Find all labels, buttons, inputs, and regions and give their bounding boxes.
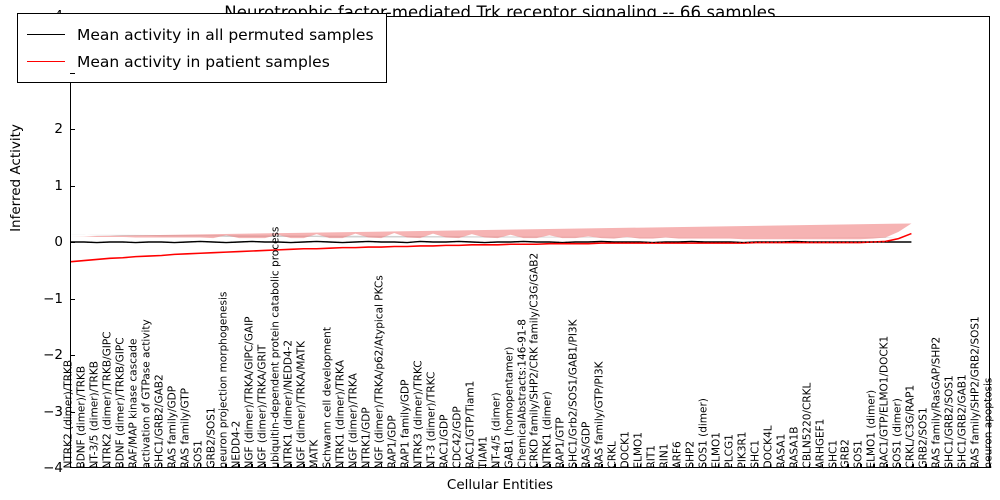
x-tick-label: SOS1	[193, 440, 204, 468]
x-tick-label: RAS family/GTP/PI3K	[595, 361, 606, 468]
x-tick-mark	[744, 464, 745, 468]
y-tick-mark	[70, 73, 75, 74]
x-tick-mark	[640, 464, 641, 468]
x-tick-mark	[977, 464, 978, 468]
y-tick-mark	[70, 412, 75, 413]
x-tick-label: CRKL/C3G/RAP1	[906, 384, 917, 468]
x-tick-mark	[394, 464, 395, 468]
x-tick-label: TIAM1	[478, 436, 489, 468]
x-tick-label: RAS/GDP	[582, 421, 593, 468]
x-tick-label: MATK	[310, 439, 321, 468]
x-tick-mark	[459, 464, 460, 468]
x-tick-label: RAP1 family/GDP	[400, 379, 411, 468]
y-tick-mark	[70, 299, 75, 300]
legend-line-swatch	[27, 61, 65, 62]
x-tick-label: Schwann cell development	[323, 327, 334, 468]
x-tick-mark	[498, 464, 499, 468]
y-tick-mark	[70, 242, 75, 243]
y-tick-label: 0	[3, 234, 63, 250]
x-tick-label: RIT1	[647, 445, 658, 469]
x-tick-label: GRB2	[841, 439, 852, 468]
x-tick-label: DOCK1	[621, 431, 632, 468]
x-tick-label: SOS1 (dimer)	[698, 398, 709, 468]
x-tick-label: SHC1/GRB2/SOS1	[945, 375, 956, 468]
x-tick-mark	[187, 464, 188, 468]
x-tick-label: CDC42/GDP	[452, 406, 463, 468]
x-tick-label: NTRK2 (dimer)/TRKB/GIPC	[102, 331, 113, 468]
x-tick-mark	[899, 464, 900, 468]
x-tick-mark	[277, 464, 278, 468]
x-tick-mark	[925, 464, 926, 468]
x-tick-label: NTRK1/GDP	[362, 407, 373, 468]
x-tick-label: NT-3/5 (dimer)/TRKB	[89, 361, 100, 468]
x-tick-mark	[614, 464, 615, 468]
x-tick-label: ELMO1	[711, 432, 722, 469]
x-tick-label: NTRK1 (dimer)/TRKA	[336, 360, 347, 468]
x-tick-mark	[912, 464, 913, 468]
y-tick-label: 2	[3, 121, 63, 137]
x-tick-mark	[316, 464, 317, 468]
x-tick-mark	[731, 464, 732, 468]
confidence-band	[71, 223, 911, 239]
x-tick-label: RAF/MAP kinase cascade	[128, 338, 139, 468]
x-tick-mark	[225, 464, 226, 468]
legend-entry: Mean activity in all permuted samples	[27, 21, 374, 48]
legend-label: Mean activity in patient samples	[77, 53, 330, 71]
legend-entry: Mean activity in patient samples	[27, 48, 374, 75]
x-tick-label: RAP1/GTP	[556, 417, 567, 468]
x-tick-label: GRB2/SOS1	[206, 407, 217, 468]
x-tick-mark	[174, 464, 175, 468]
x-tick-label: RAP1/GDP	[387, 415, 398, 468]
x-tick-label: RAS family/SHP2/GRB2/SOS1	[971, 316, 982, 468]
x-tick-mark	[770, 464, 771, 468]
x-tick-mark	[109, 464, 110, 468]
x-tick-label: RAS family/GDP	[167, 385, 178, 468]
x-tick-mark	[213, 464, 214, 468]
x-tick-mark	[718, 464, 719, 468]
x-tick-mark	[692, 464, 693, 468]
x-tick-mark	[433, 464, 434, 468]
x-axis-label: Cellular Entities	[0, 477, 1000, 493]
y-tick-mark	[70, 355, 75, 356]
x-tick-mark	[990, 464, 991, 468]
x-tick-mark	[524, 464, 525, 468]
x-tick-mark	[511, 464, 512, 468]
x-tick-label: SOS1	[854, 440, 865, 468]
y-tick-label: −1	[3, 291, 63, 307]
x-tick-label: SHC1/GRB2/GAB2	[154, 374, 165, 468]
x-tick-mark	[446, 464, 447, 468]
figure: Neurotrophic factor-mediated Trk recepto…	[0, 0, 1000, 500]
y-tick-mark	[70, 129, 75, 130]
x-tick-label: NT-4/5 (dimer)	[491, 392, 502, 468]
x-tick-label: RAC1/GDP	[439, 414, 450, 468]
x-tick-mark	[303, 464, 304, 468]
x-tick-label: NEDD4-2	[232, 420, 243, 468]
x-tick-mark	[420, 464, 421, 468]
x-tick-mark	[757, 464, 758, 468]
x-tick-mark	[148, 464, 149, 468]
x-tick-mark	[562, 464, 563, 468]
x-tick-label: GRB2/SOS1	[919, 407, 930, 468]
x-tick-mark	[938, 464, 939, 468]
x-tick-label: PLCG1	[724, 434, 735, 468]
y-tick-label: 1	[3, 178, 63, 194]
x-tick-mark	[407, 464, 408, 468]
x-tick-mark	[964, 464, 965, 468]
x-tick-label: ELMO1 (dimer)	[867, 389, 878, 468]
x-tick-mark	[783, 464, 784, 468]
legend-label: Mean activity in all permuted samples	[77, 26, 374, 44]
x-tick-mark	[238, 464, 239, 468]
x-tick-mark	[588, 464, 589, 468]
x-tick-mark	[796, 464, 797, 468]
x-tick-mark	[886, 464, 887, 468]
x-tick-mark	[161, 464, 162, 468]
x-tick-mark	[251, 464, 252, 468]
x-tick-mark	[290, 464, 291, 468]
x-tick-label: NTRK1 (dimer)	[543, 391, 554, 468]
x-tick-mark	[96, 464, 97, 468]
x-tick-label: SOS1 (dimer)	[893, 398, 904, 468]
x-tick-label: RAC1/GTP/Tiam1	[465, 380, 476, 468]
x-tick-mark	[342, 464, 343, 468]
x-tick-label: SHC1	[750, 439, 761, 468]
x-tick-label: SHC1/GRB2/GAB1	[958, 374, 969, 468]
x-tick-mark	[264, 464, 265, 468]
x-tick-label: NGF (dimer)/TRKA/p62/Atypical PKCs	[374, 275, 385, 468]
x-tick-mark	[601, 464, 602, 468]
x-tick-mark	[666, 464, 667, 468]
x-tick-mark	[549, 464, 550, 468]
x-tick-mark	[653, 464, 654, 468]
x-tick-label: NTRK1 (dimer)/NEDD4-2	[284, 339, 295, 468]
x-tick-mark	[329, 464, 330, 468]
y-tick-mark	[70, 186, 75, 187]
x-tick-label: ARF6	[673, 441, 684, 468]
x-tick-mark	[822, 464, 823, 468]
x-tick-mark	[873, 464, 874, 468]
x-tick-mark	[70, 464, 71, 468]
x-tick-label: DOCK4L	[763, 425, 774, 468]
x-tick-mark	[536, 464, 537, 468]
y-tick-label: −2	[3, 347, 63, 363]
x-tick-label: neuron projection morphogenesis	[219, 291, 230, 468]
x-tick-label: GAB1 (homopentamer)	[504, 346, 515, 468]
x-tick-mark	[122, 464, 123, 468]
x-tick-label: ChemicalAbstracts:146-91-8	[517, 319, 528, 468]
y-tick-label: −4	[3, 460, 63, 476]
x-tick-mark	[809, 464, 810, 468]
x-tick-label: ubiquitin-dependent protein catabolic pr…	[271, 226, 282, 468]
x-tick-label: NGF (dimer)/TRKA	[349, 373, 360, 468]
x-tick-label: NTRK3 (dimer)/TRKC	[413, 360, 424, 468]
x-tick-label: CRKD family/SHP2/CRK family/C3G/GAB2	[530, 252, 541, 468]
x-tick-label: NGF (dimer)/TRKA/MATK	[297, 340, 308, 468]
x-tick-label: NTRK2 (dimer)/TRKB	[64, 359, 75, 468]
x-tick-mark	[485, 464, 486, 468]
x-tick-label: CBLN5220/CRKL	[802, 382, 813, 468]
x-tick-mark	[679, 464, 680, 468]
x-tick-label: ELMO1	[634, 432, 645, 469]
x-tick-label: RASA1	[776, 433, 787, 468]
x-tick-label: SHC1	[828, 439, 839, 468]
x-tick-mark	[381, 464, 382, 468]
x-tick-mark	[575, 464, 576, 468]
x-tick-mark	[627, 464, 628, 468]
x-tick-mark	[951, 464, 952, 468]
x-tick-label: ARHGEF1	[815, 418, 826, 468]
x-tick-label: PIK3R1	[737, 431, 748, 468]
x-tick-label: NT-3 (dimer)/TRKC	[426, 371, 437, 468]
x-tick-label: activation of GTPase activity	[141, 319, 152, 468]
x-tick-mark	[355, 464, 356, 468]
x-tick-label: neuron apoptosis	[984, 377, 995, 468]
x-tick-mark	[705, 464, 706, 468]
x-tick-mark	[847, 464, 848, 468]
x-tick-mark	[135, 464, 136, 468]
x-tick-mark	[472, 464, 473, 468]
x-tick-label: BDNF (dimer)/TRKB	[76, 365, 87, 468]
x-tick-mark	[368, 464, 369, 468]
x-tick-label: BDNF (dimer)/TRKB/GIPC	[115, 337, 126, 468]
x-tick-label: SHP2	[685, 440, 696, 468]
x-tick-label: RAS family/RasGAP/SHP2	[932, 336, 943, 468]
x-tick-mark	[835, 464, 836, 468]
x-tick-label: SHC1/Grb2/SOS1/GAB1/PI3K	[569, 319, 580, 468]
x-tick-label: RIN1	[660, 443, 671, 468]
y-tick-label: −3	[3, 404, 63, 420]
x-tick-label: RAS family/GTP	[180, 387, 191, 468]
x-tick-label: NGF (dimer)/TRKA/GRIT	[258, 344, 269, 468]
x-tick-label: RASA1B	[789, 426, 800, 468]
x-tick-label: NGF (dimer)/TRKA/GIPC/GAIP	[245, 316, 256, 468]
legend-line-swatch	[27, 34, 65, 35]
x-tick-mark	[83, 464, 84, 468]
x-tick-label: CRKL	[608, 441, 619, 468]
x-tick-label: RAC1/GTP/ELMO1/DOCK1	[880, 335, 891, 468]
x-tick-mark	[860, 464, 861, 468]
x-tick-mark	[200, 464, 201, 468]
